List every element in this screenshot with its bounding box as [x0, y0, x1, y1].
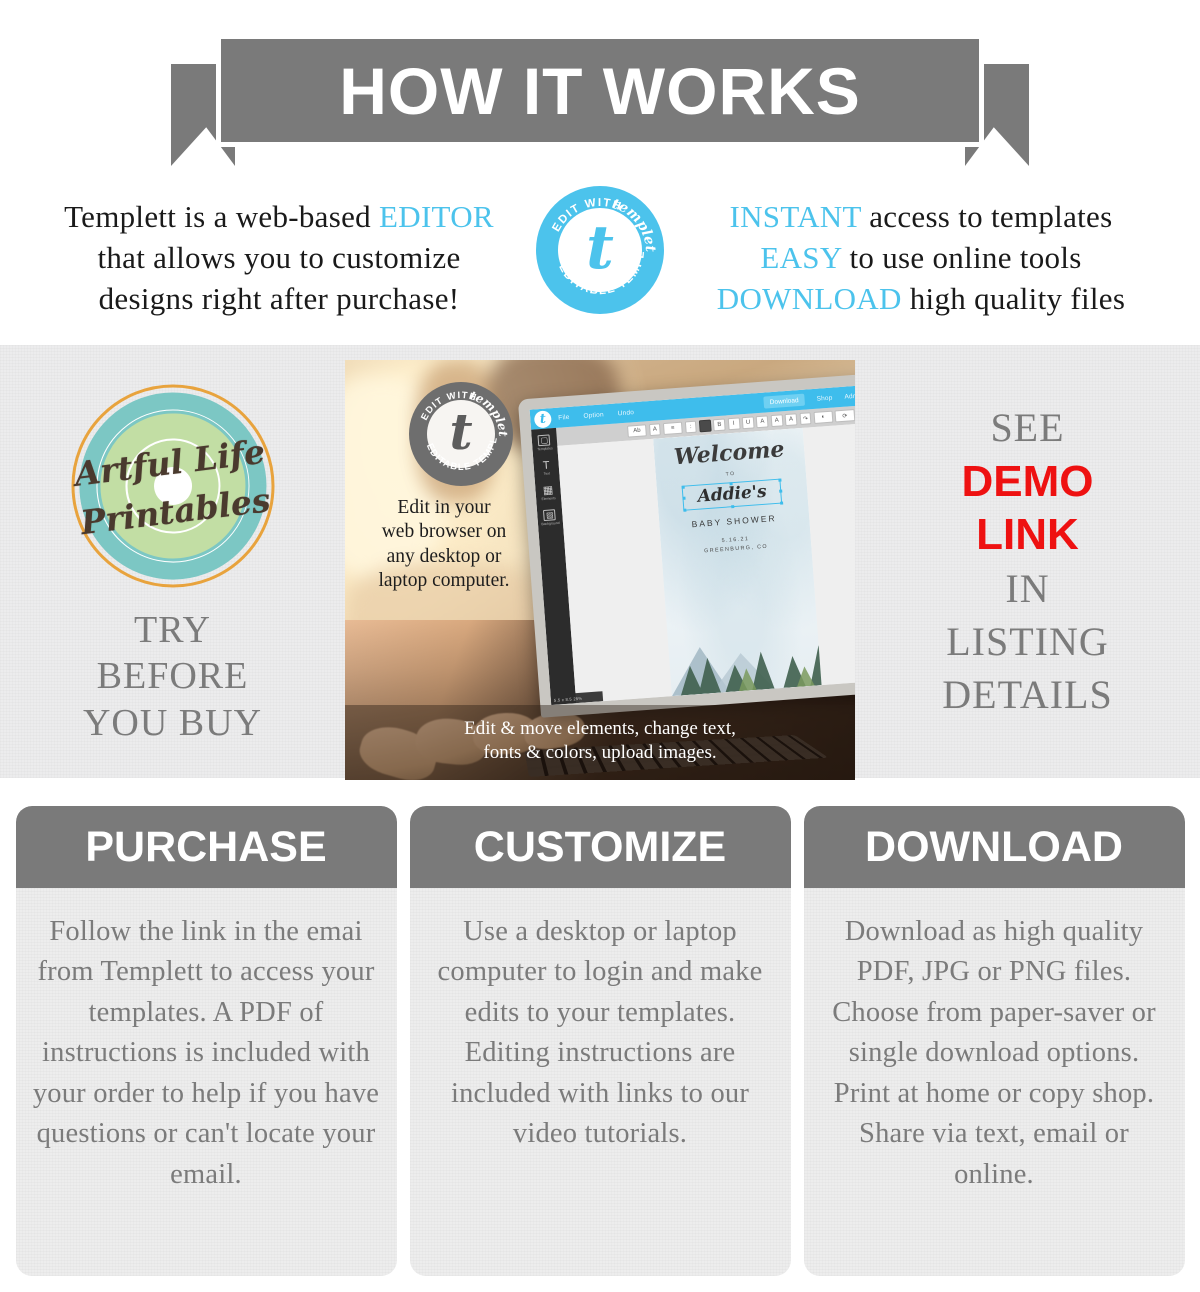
sidebar-item-text[interactable]: T Text: [539, 459, 552, 476]
intro-right-line3-highlight: DOWNLOAD: [717, 281, 902, 316]
intro-left-line1-highlight: EDITOR: [379, 199, 494, 234]
italic-button[interactable]: I: [727, 418, 740, 431]
demo-link-column: SEE DEMO LINK IN LISTING DETAILS: [855, 345, 1200, 778]
intro-right-line3-rest: high quality files: [902, 281, 1126, 316]
photo-caption-bottom-l2: fonts & colors, upload images.: [355, 741, 845, 766]
intro-right-line2: EASY to use online tools: [686, 237, 1156, 278]
sidebar-label-text: Text: [543, 472, 549, 476]
laptop-device: t File Option Undo Download Shop Admin H…: [517, 371, 855, 718]
intro-right-line2-highlight: EASY: [760, 240, 841, 275]
resize-handle[interactable]: [682, 497, 685, 500]
intro-left-line1-pre: Templett is a web-based: [64, 199, 379, 234]
demo-line-listing: LISTING: [946, 615, 1109, 668]
intro-text-left: Templett is a web-based EDITOR that allo…: [44, 186, 514, 320]
font-family-dropdown[interactable]: Ab: [627, 424, 647, 437]
elements-icon: ▦: [541, 484, 554, 496]
laptop-photo: t File Option Undo Download Shop Admin H…: [345, 360, 855, 780]
intro-right-line1: INSTANT access to templates: [686, 196, 1156, 237]
intro-right-line1-rest: access to templates: [861, 199, 1112, 234]
artful-life-printables-logo: Artful Life Printables: [67, 381, 279, 591]
font-color-icon[interactable]: A: [648, 423, 661, 436]
infographic-page: HOW IT WORKS Templett is a web-based EDI…: [0, 0, 1200, 1292]
header-banner: HOW IT WORKS: [0, 34, 1200, 166]
sidebar-label-background: Background: [541, 521, 559, 526]
demo-line-demo: DEMO: [962, 455, 1094, 509]
curve-text-button[interactable]: ↷: [799, 412, 812, 425]
menu-option[interactable]: Option: [583, 411, 604, 419]
design-name-text[interactable]: Addie's: [697, 484, 767, 506]
demo-line-see: SEE: [990, 401, 1064, 454]
step-card-download-header: DOWNLOAD: [804, 806, 1185, 888]
intro-left-line2: that allows you to customize: [44, 237, 514, 278]
rotate-dropdown[interactable]: ⟳: [835, 409, 855, 422]
resize-handle[interactable]: [779, 490, 782, 493]
bold-button[interactable]: B: [713, 419, 726, 432]
letter-spacing-button[interactable]: A: [756, 416, 769, 429]
step-card-purchase-title: PURCHASE: [85, 823, 326, 872]
step-card-customize: CUSTOMIZE Use a desktop or laptop comput…: [410, 806, 791, 1276]
resize-handle[interactable]: [731, 505, 734, 508]
step-card-customize-title: CUSTOMIZE: [474, 823, 726, 872]
laptop-bezel: t File Option Undo Download Shop Admin H…: [517, 371, 855, 718]
menu-shop[interactable]: Shop: [816, 394, 832, 402]
intro-text-right: INSTANT access to templates EASY to use …: [686, 186, 1156, 320]
opacity-dropdown[interactable]: ◐: [813, 411, 833, 424]
intro-right-line2-rest: to use online tools: [841, 240, 1081, 275]
badge-arc-text: EDIT WITH templett EDITABLE TEMPLATE: [409, 382, 513, 486]
step-card-purchase-body: Follow the link in the emai from Templet…: [16, 888, 397, 1276]
badge-brand-label: templett: [536, 186, 658, 253]
resize-handle[interactable]: [779, 501, 782, 504]
text-icon: T: [539, 459, 552, 471]
intro-left-line3: designs right after purchase!: [44, 278, 514, 319]
line-height-button[interactable]: A: [770, 414, 783, 427]
try-line-2: BEFORE: [83, 653, 262, 699]
templett-badge-cyan: t EDIT WITH templett EDITABLE TEMPLATE: [536, 186, 664, 314]
intro-left-line1: Templett is a web-based EDITOR: [44, 196, 514, 237]
try-line-1: TRY: [83, 607, 262, 653]
step-card-purchase-header: PURCHASE: [16, 806, 397, 888]
photo-caption-bottom: Edit & move elements, change text, fonts…: [345, 705, 855, 780]
background-icon: ▨: [543, 509, 556, 521]
templett-logo-icon: t: [533, 410, 551, 428]
banner-center-block: HOW IT WORKS: [216, 34, 984, 147]
font-size-stepper[interactable]: :: [684, 421, 697, 434]
sidebar-label-templates: Templates: [537, 446, 553, 451]
step-card-download-title: DOWNLOAD: [865, 823, 1123, 872]
demo-line-in: IN: [1005, 562, 1049, 615]
editor-canvas[interactable]: Welcome TO Addie's: [557, 421, 855, 704]
photo-caption-middle: Edit in your web browser on any desktop …: [369, 496, 519, 594]
logo-swirl-graphic: [67, 381, 279, 591]
intro-right-line1-highlight: INSTANT: [730, 199, 862, 234]
step-card-purchase: PURCHASE Follow the link in the emai fro…: [16, 806, 397, 1276]
photo-caption-bottom-l1: Edit & move elements, change text,: [355, 717, 845, 742]
step-card-download: DOWNLOAD Download as high quality PDF, J…: [804, 806, 1185, 1276]
try-before-you-buy-text: TRY BEFORE YOU BUY: [83, 607, 262, 746]
download-button[interactable]: Download: [763, 394, 805, 409]
menu-admin[interactable]: Admin: [844, 392, 855, 400]
photo-caption-mid-l2: web browser on: [369, 520, 519, 544]
color-swatch[interactable]: [698, 420, 711, 433]
design-card[interactable]: Welcome TO Addie's: [652, 428, 821, 697]
templett-editor-screen: t File Option Undo Download Shop Admin H…: [529, 383, 855, 705]
sidebar-label-elements: Elements: [541, 496, 555, 501]
sidebar-item-elements[interactable]: ▦ Elements: [540, 484, 555, 501]
photo-caption-mid-l3: any desktop or: [369, 545, 519, 569]
brand-column: Artful Life Printables TRY BEFORE YOU BU…: [0, 345, 345, 778]
steps-cards-row: PURCHASE Follow the link in the emai fro…: [0, 806, 1200, 1276]
step-card-customize-header: CUSTOMIZE: [410, 806, 791, 888]
intro-right-line3: DOWNLOAD high quality files: [686, 278, 1156, 319]
demo-line-link: LINK: [976, 508, 1079, 562]
template-icon: ▢: [538, 435, 551, 447]
text-case-button[interactable]: A: [784, 413, 797, 426]
editor-statusbar: 5.5 x 8.5 25%: [550, 692, 603, 706]
badge-arc-text: EDIT WITH templett EDITABLE TEMPLATE: [536, 186, 664, 314]
underline-button[interactable]: U: [741, 417, 754, 430]
step-card-customize-body: Use a desktop or laptop computer to logi…: [410, 888, 791, 1276]
photo-caption-mid-l4: laptop computer.: [369, 569, 519, 593]
intro-row: Templett is a web-based EDITOR that allo…: [0, 186, 1200, 341]
resize-handle[interactable]: [778, 478, 781, 481]
demo-line-details: DETAILS: [942, 668, 1112, 721]
page-title: HOW IT WORKS: [339, 58, 861, 124]
badge-top-label: EDIT WITH: [550, 197, 623, 234]
step-card-download-body: Download as high quality PDF, JPG or PNG…: [804, 888, 1185, 1276]
menu-file[interactable]: File: [558, 414, 570, 422]
templett-badge-gray: t EDIT WITH templett EDITABLE TEMPLATE: [409, 382, 513, 486]
photo-caption-mid-l1: Edit in your: [369, 496, 519, 520]
resize-handle[interactable]: [729, 482, 732, 485]
sidebar-item-templates[interactable]: ▢ Templates: [536, 434, 553, 451]
menu-undo[interactable]: Undo: [617, 409, 634, 417]
badge-top-label: EDIT WITH: [418, 389, 479, 422]
sidebar-item-background[interactable]: ▨ Background: [540, 509, 559, 526]
try-line-3: YOU BUY: [83, 700, 262, 746]
resize-handle[interactable]: [681, 485, 684, 488]
align-dropdown[interactable]: ≡: [662, 422, 682, 435]
resize-handle[interactable]: [683, 508, 686, 511]
